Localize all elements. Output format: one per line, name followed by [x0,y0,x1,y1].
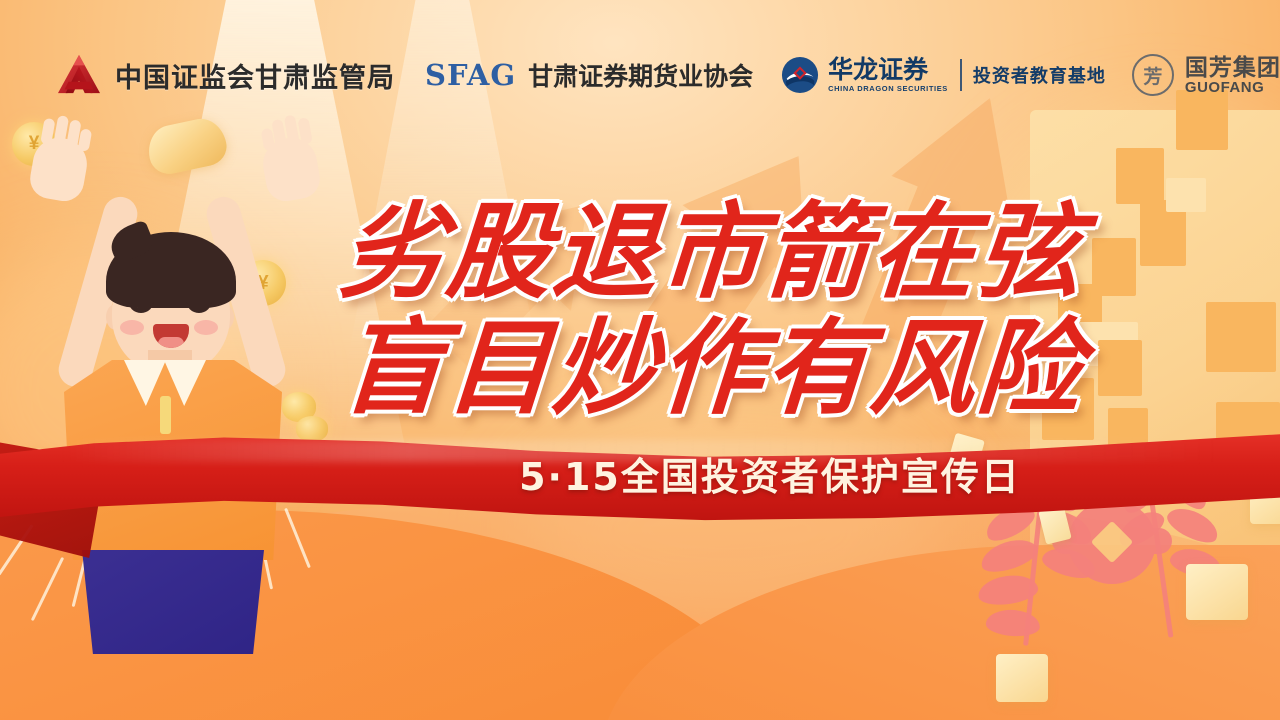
investor-protection-banner: ¥ ¥ [0,0,1280,720]
china-dragon-circle-icon [781,56,819,94]
guofang-seal-glyph: 芳 [1143,62,1162,89]
sfag-label: 甘肃证券期货业协会 [528,57,753,93]
upward-arrow-icon [613,117,866,392]
china-dragon-name-cn: 华龙证券 [828,57,948,82]
csrc-triangle-logo-icon [56,53,102,97]
logo-divider [960,59,962,91]
logo-sfag: SFAG 甘肃证券期货业协会 [425,57,753,93]
raised-hand [259,134,323,204]
guofang-name-cn: 国芳集团 [1185,56,1280,79]
gold-cube [996,654,1048,702]
china-dragon-wordmark: 华龙证券 CHINA DRAGON SECURITIES [828,57,948,93]
raised-hand [27,134,91,204]
smiling-mouth [153,324,189,348]
logo-csrc-gansu: 中国证监会甘肃监管局 [56,53,395,97]
ribbon-text-wrap: 5·15全国投资者保护宣传日 [0,446,1280,501]
logo-china-dragon-securities: 华龙证券 CHINA DRAGON SECURITIES 投资者教育基地 [781,56,1106,94]
cheek-blush [120,320,144,335]
guofang-name-en: GUOFANG [1185,80,1280,95]
ribbon-text: 5·15全国投资者保护宣传日 [519,446,1021,501]
guofang-wordmark: 国芳集团 GUOFANG [1185,56,1280,95]
investor-education-base-label: 投资者教育基地 [973,62,1106,88]
logo-guofang-group: 芳 国芳集团 GUOFANG [1132,54,1280,96]
sfag-abbreviation: SFAG [425,58,516,92]
guofang-circle-seal-icon: 芳 [1132,54,1174,96]
shorts [82,550,264,654]
csrc-gansu-label: 中国证监会甘肃监管局 [115,56,395,95]
cheek-blush [194,320,218,335]
gold-cube [1186,564,1248,620]
china-dragon-name-en: CHINA DRAGON SECURITIES [828,84,948,93]
cheerful-boy-illustration [8,128,348,648]
logo-bar: 中国证监会甘肃监管局 SFAG 甘肃证券期货业协会 华龙证券 CHINA DRA… [0,44,1280,106]
